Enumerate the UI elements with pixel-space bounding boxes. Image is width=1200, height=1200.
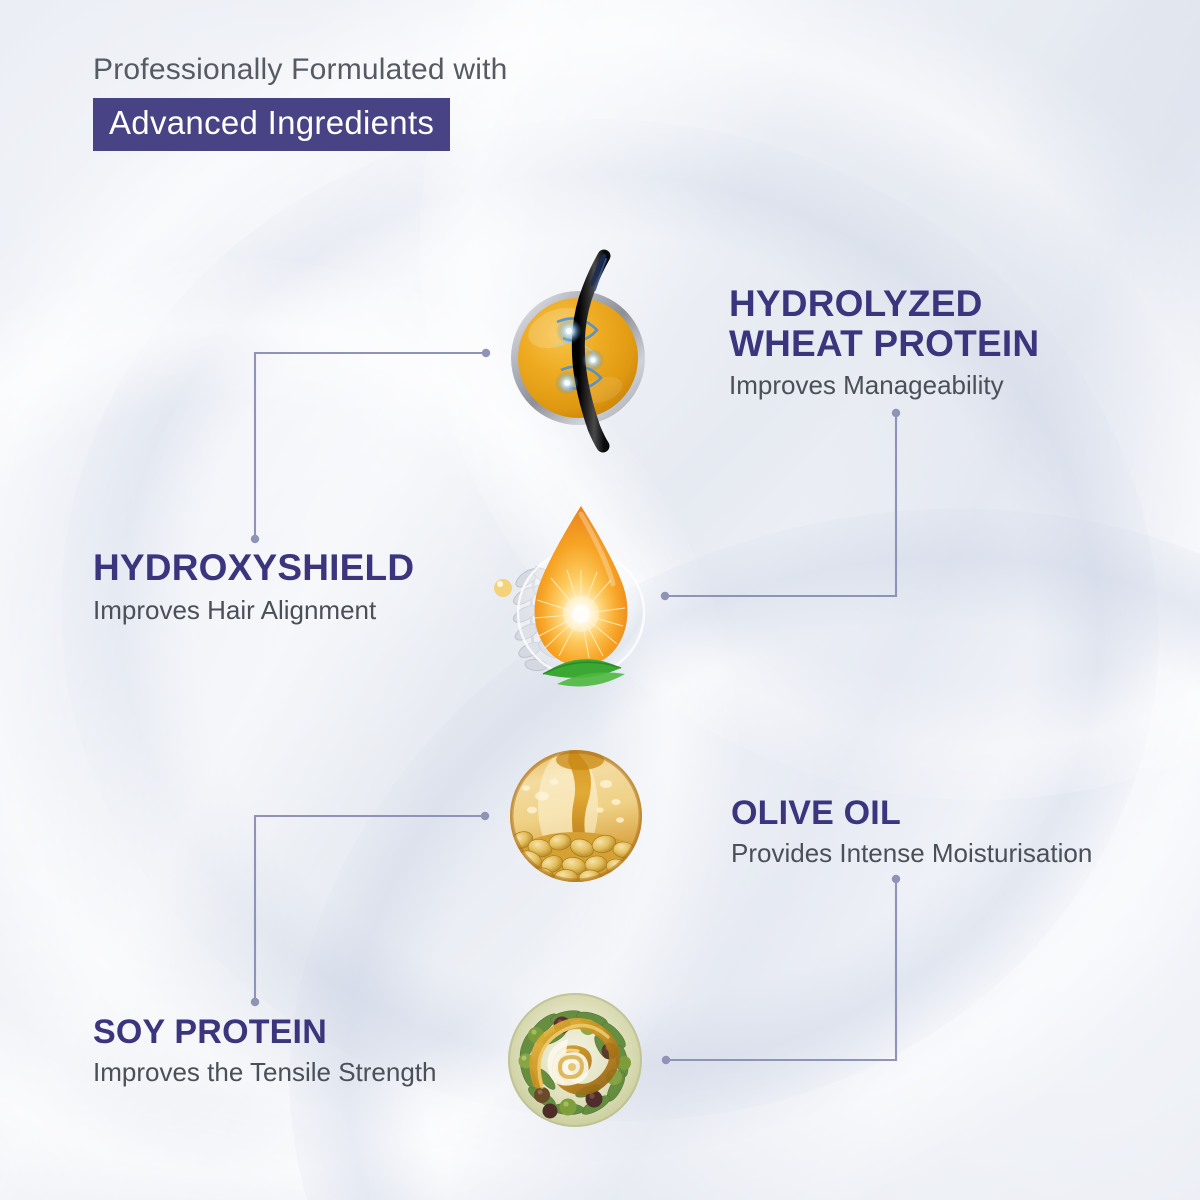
- ingredient-title-line1: SOY PROTEIN: [93, 1014, 436, 1050]
- ingredient-block-hydroxyshield: HYDROXYSHIELD Improves Hair Alignment: [93, 548, 414, 626]
- hair-follicle-sphere-icon: [505, 250, 655, 450]
- ingredient-block-olive-oil: OLIVE OIL Provides Intense Moisturisatio…: [731, 795, 1092, 870]
- ingredient-subtitle: Improves Hair Alignment: [93, 594, 414, 627]
- connector-hydrolyzed-wheat-protein: [661, 409, 900, 600]
- ingredient-title-line1: OLIVE OIL: [731, 795, 1092, 831]
- ingredient-title: HYDROLYZED WHEAT PROTEIN: [729, 284, 1039, 363]
- infographic-canvas: Professionally Formulated with Advanced …: [0, 0, 1200, 1200]
- ingredient-block-hydrolyzed-wheat-protein: HYDROLYZED WHEAT PROTEIN Improves Manage…: [729, 284, 1039, 402]
- header: Professionally Formulated with Advanced …: [93, 52, 508, 151]
- ingredient-block-soy-protein: SOY PROTEIN Improves the Tensile Strengt…: [93, 1014, 436, 1089]
- ingredient-title-line1: HYDROLYZED: [729, 284, 1039, 324]
- olive-oil-swirl-icon: [506, 991, 644, 1129]
- ingredient-title-line2: WHEAT PROTEIN: [729, 324, 1039, 364]
- orange-droplet-wheat-icon: [485, 492, 670, 692]
- soy-beans-oil-icon: [508, 748, 644, 884]
- ingredient-title: OLIVE OIL: [731, 795, 1092, 831]
- header-badge: Advanced Ingredients: [93, 98, 450, 151]
- connector-hydroxyshield: [251, 349, 490, 543]
- connector-olive-oil: [662, 875, 900, 1064]
- ingredient-title-line1: HYDROXYSHIELD: [93, 548, 414, 588]
- ingredient-subtitle: Improves the Tensile Strength: [93, 1056, 436, 1089]
- ingredient-subtitle: Provides Intense Moisturisation: [731, 837, 1092, 870]
- ingredient-subtitle: Improves Manageability: [729, 369, 1039, 402]
- header-eyebrow: Professionally Formulated with: [93, 52, 508, 88]
- connector-soy-protein: [251, 812, 489, 1006]
- ingredient-title: SOY PROTEIN: [93, 1014, 436, 1050]
- ingredient-title: HYDROXYSHIELD: [93, 548, 414, 588]
